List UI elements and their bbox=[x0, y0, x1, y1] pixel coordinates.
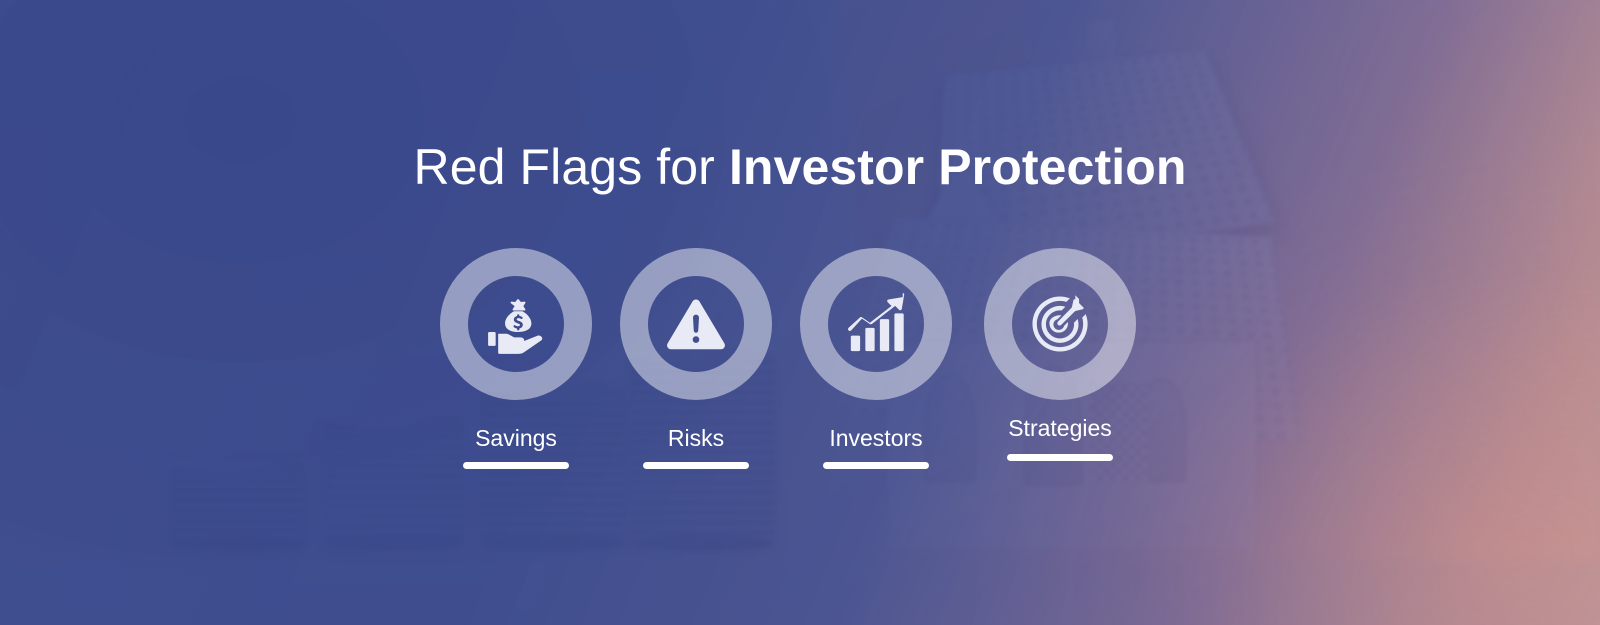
hero-banner: Red Flags for Investor Protection Saving… bbox=[0, 0, 1600, 625]
bar-chart-growth-arrow-icon bbox=[845, 293, 907, 355]
feature-label: Savings bbox=[438, 424, 594, 452]
page-title-regular: Red Flags for bbox=[414, 139, 729, 195]
hand-holding-money-bag-icon bbox=[485, 293, 547, 355]
feature-item-strategies[interactable]: Strategies bbox=[982, 248, 1138, 400]
feature-item-investors[interactable]: Investors bbox=[798, 248, 954, 400]
banner-content: Red Flags for Investor Protection Saving… bbox=[0, 0, 1600, 625]
feature-underline bbox=[643, 462, 749, 469]
feature-icon-ring-investors bbox=[800, 248, 952, 400]
feature-item-savings[interactable]: Savings bbox=[438, 248, 594, 400]
warning-triangle-icon bbox=[665, 293, 727, 355]
page-title: Red Flags for Investor Protection bbox=[0, 136, 1600, 198]
feature-item-risks[interactable]: Risks bbox=[618, 248, 774, 400]
feature-label: Strategies bbox=[982, 414, 1138, 442]
feature-underline bbox=[1007, 454, 1113, 461]
feature-label: Risks bbox=[618, 424, 774, 452]
feature-icon-ring-risks bbox=[620, 248, 772, 400]
page-title-strong: Investor Protection bbox=[729, 139, 1187, 195]
feature-underline bbox=[463, 462, 569, 469]
feature-icon-ring-savings bbox=[440, 248, 592, 400]
feature-list: Savings Risks bbox=[438, 248, 1138, 488]
feature-label: Investors bbox=[798, 424, 954, 452]
target-with-arrow-icon bbox=[1029, 293, 1091, 355]
feature-underline bbox=[823, 462, 929, 469]
feature-icon-ring-strategies bbox=[984, 248, 1136, 400]
